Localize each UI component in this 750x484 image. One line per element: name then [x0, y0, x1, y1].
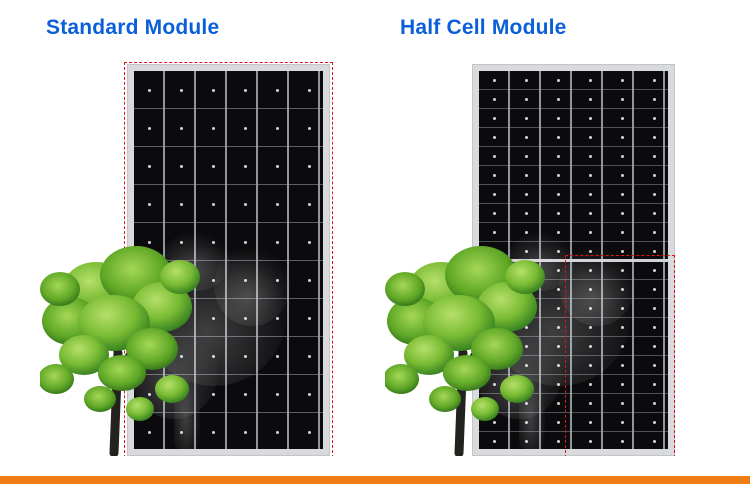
busbar-dot	[180, 127, 183, 130]
busbar-dot	[621, 402, 624, 405]
busbar-dot	[653, 402, 656, 405]
busbar-dot	[276, 355, 279, 358]
busbar-dot	[212, 393, 215, 396]
busbar-dot	[308, 317, 311, 320]
busbar-dot	[493, 136, 496, 139]
busbar-dot	[557, 117, 560, 120]
busbar-dot	[212, 241, 215, 244]
busbar-dot	[621, 79, 624, 82]
busbar-dot	[589, 231, 592, 234]
busbar-dot	[148, 127, 151, 130]
busbar-dot	[621, 155, 624, 158]
busbar-dot	[557, 345, 560, 348]
busbar-dot	[244, 89, 247, 92]
busbar-dot	[557, 307, 560, 310]
busbar-dot	[244, 431, 247, 434]
busbar-dot	[621, 212, 624, 215]
busbar-dot	[653, 307, 656, 310]
busbar-dot	[276, 203, 279, 206]
busbar-dot	[557, 269, 560, 272]
busbar-dot	[653, 345, 656, 348]
busbar-dot	[557, 136, 560, 139]
busbar-dot	[180, 89, 183, 92]
busbar-dot	[621, 345, 624, 348]
busbar-dot	[557, 402, 560, 405]
busbar-dot	[276, 165, 279, 168]
tree-right	[385, 203, 550, 458]
busbar-dot	[308, 127, 311, 130]
busbar-dot	[212, 165, 215, 168]
busbar-dot	[276, 127, 279, 130]
busbar-dot	[589, 117, 592, 120]
busbar-dot	[621, 117, 624, 120]
diagram-stage: Standard Module Half Cell Module	[0, 0, 750, 484]
busbar-dot	[244, 355, 247, 358]
busbar-dot	[308, 279, 311, 282]
busbar-dot	[589, 193, 592, 196]
busbar-dot	[653, 212, 656, 215]
busbar-dot	[589, 288, 592, 291]
busbar-dot	[589, 307, 592, 310]
busbar-dot	[557, 193, 560, 196]
busbar-dot	[557, 250, 560, 253]
busbar-dot	[212, 89, 215, 92]
busbar-dot	[276, 393, 279, 396]
busbar-dot	[621, 269, 624, 272]
busbar-dot	[557, 421, 560, 424]
busbar-dot	[244, 317, 247, 320]
busbar-dot	[621, 440, 624, 443]
busbar-dot	[244, 127, 247, 130]
busbar-dot	[653, 383, 656, 386]
busbar-dot	[244, 241, 247, 244]
busbar-dot	[212, 431, 215, 434]
busbar-dot	[589, 98, 592, 101]
busbar-dot	[653, 193, 656, 196]
busbar-dot	[557, 231, 560, 234]
busbar-dot	[493, 174, 496, 177]
busbar-dot	[276, 279, 279, 282]
busbar-dot	[244, 203, 247, 206]
busbar-dot	[557, 383, 560, 386]
busbar-dot	[493, 98, 496, 101]
busbar-dot	[308, 203, 311, 206]
busbar-dot	[308, 355, 311, 358]
busbar-dot	[244, 279, 247, 282]
bottom-accent-bar	[0, 476, 750, 484]
busbar-dot	[621, 383, 624, 386]
busbar-dot	[621, 250, 624, 253]
busbar-dot	[653, 364, 656, 367]
busbar-dot	[589, 345, 592, 348]
busbar-dot	[589, 383, 592, 386]
busbar-dot	[653, 174, 656, 177]
busbar-dot	[621, 136, 624, 139]
busbar-dot	[653, 117, 656, 120]
busbar-dot	[493, 155, 496, 158]
busbar-dot	[525, 117, 528, 120]
busbar-dot	[589, 250, 592, 253]
busbar-dot	[212, 279, 215, 282]
busbar-dot	[621, 231, 624, 234]
busbar-dot	[148, 89, 151, 92]
busbar-dot	[525, 193, 528, 196]
busbar-dot	[589, 269, 592, 272]
busbar-dot	[276, 317, 279, 320]
busbar-dot	[653, 250, 656, 253]
busbar-dot	[244, 165, 247, 168]
busbar-dot	[653, 269, 656, 272]
busbar-dot	[557, 79, 560, 82]
busbar-dot	[308, 241, 311, 244]
tree-left	[40, 203, 205, 458]
busbar-dot	[589, 402, 592, 405]
busbar-dot	[212, 317, 215, 320]
busbar-dot	[525, 136, 528, 139]
busbar-dot	[276, 431, 279, 434]
busbar-dot	[653, 421, 656, 424]
busbar-dot	[525, 79, 528, 82]
busbar-dot	[621, 98, 624, 101]
busbar-dot	[148, 165, 151, 168]
busbar-dot	[557, 288, 560, 291]
busbar-dot	[557, 155, 560, 158]
busbar-dot	[212, 355, 215, 358]
busbar-dot	[653, 326, 656, 329]
busbar-dot	[525, 155, 528, 158]
busbar-dot	[653, 136, 656, 139]
busbar-dot	[276, 241, 279, 244]
busbar-dot	[525, 174, 528, 177]
busbar-dot	[308, 165, 311, 168]
busbar-dot	[621, 326, 624, 329]
busbar-dot	[525, 98, 528, 101]
busbar-dot	[493, 117, 496, 120]
busbar-dot	[589, 174, 592, 177]
busbar-dot	[621, 193, 624, 196]
busbar-dot	[308, 431, 311, 434]
busbar-dot	[557, 364, 560, 367]
busbar-dot	[589, 421, 592, 424]
busbar-dot	[557, 326, 560, 329]
page-title-half-cell-module: Half Cell Module	[400, 16, 567, 40]
busbar-dot	[653, 231, 656, 234]
bottom-white-strip	[0, 456, 750, 476]
busbar-dot	[589, 326, 592, 329]
busbar-dot	[212, 203, 215, 206]
busbar-dot	[653, 98, 656, 101]
busbar-dot	[589, 440, 592, 443]
busbar-dot	[308, 393, 311, 396]
busbar-dot	[589, 79, 592, 82]
busbar-dot	[653, 155, 656, 158]
busbar-dot	[308, 89, 311, 92]
busbar-dot	[621, 364, 624, 367]
busbar-dot	[557, 98, 560, 101]
busbar-dot	[557, 212, 560, 215]
busbar-dot	[557, 440, 560, 443]
busbar-dot	[653, 288, 656, 291]
busbar-dot	[557, 174, 560, 177]
busbar-dot	[493, 193, 496, 196]
busbar-dot	[589, 136, 592, 139]
busbar-dot	[621, 421, 624, 424]
busbar-dot	[589, 155, 592, 158]
busbar-dot	[621, 307, 624, 310]
page-title-standard-module: Standard Module	[46, 16, 219, 40]
busbar-dot	[589, 364, 592, 367]
busbar-dot	[180, 165, 183, 168]
busbar-dot	[589, 212, 592, 215]
busbar-dot	[212, 127, 215, 130]
busbar-dot	[276, 89, 279, 92]
busbar-dot	[244, 393, 247, 396]
busbar-dot	[493, 79, 496, 82]
busbar-dot	[653, 440, 656, 443]
busbar-dot	[621, 174, 624, 177]
busbar-dot	[621, 288, 624, 291]
busbar-dot	[653, 79, 656, 82]
